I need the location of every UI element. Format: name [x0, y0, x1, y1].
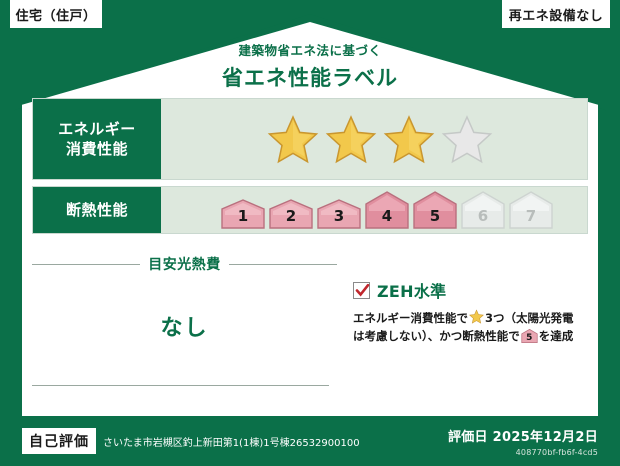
utility-cost-header: 目安光熱費	[32, 254, 337, 274]
zeh-desc-stars: 3つ（太陽光発電	[485, 311, 574, 325]
page-title: 建築物省エネ法に基づく 省エネ性能ラベル	[0, 40, 620, 92]
house-icon-inline-number: 5	[521, 334, 538, 343]
utility-cost-section: 目安光熱費 なし	[32, 250, 337, 400]
row-energy-label-line1: エネルギー	[58, 119, 136, 139]
star-icon-inline	[469, 309, 484, 324]
house-icon-level-4: 4	[365, 191, 409, 229]
house-icon-inline: 5	[521, 329, 538, 343]
energy-performance-label: 住宅（住戸） 再エネ設備なし 建築物省エネ法に基づく 省エネ性能ラベル エネルギ…	[0, 0, 620, 466]
star-rating	[267, 113, 493, 165]
footer-right: 評価日 2025年12月2日 408770bf-fb6f-4cd5	[448, 426, 598, 457]
divider-right	[229, 264, 337, 265]
zeh-desc-part2: は考慮しない）、かつ断熱性能で	[353, 329, 520, 343]
zeh-desc-part3: を達成	[539, 329, 574, 343]
house-level-number: 5	[413, 209, 457, 224]
house-icon-level-5: 5	[413, 191, 457, 229]
zeh-desc-part1: エネルギー消費性能で	[353, 311, 468, 325]
insulation-level-scale: 1 2 3	[221, 191, 553, 229]
divider-left	[32, 264, 140, 265]
title-subtitle: 建築物省エネ法に基づく	[0, 40, 620, 59]
row-insulation-performance: 断熱性能 1	[32, 186, 588, 234]
house-icon-level-2: 2	[269, 199, 313, 229]
star-icon-empty-4	[441, 113, 493, 165]
zeh-section: ZEH水準 エネルギー消費性能で3つ（太陽光発電 は考慮しない）、かつ断熱性能で…	[337, 250, 588, 400]
house-level-number: 2	[269, 209, 313, 224]
zeh-header: ZEH水準	[353, 278, 588, 302]
house-level-number: 1	[221, 209, 265, 224]
row-energy-label: エネルギー 消費性能	[33, 99, 161, 179]
badge-building-type: 住宅（住戸）	[8, 0, 104, 30]
row-energy-body	[161, 99, 587, 179]
evaluation-date-value: 2025年12月2日	[493, 430, 598, 445]
zeh-checkbox[interactable]	[353, 282, 370, 299]
row-insulation-label-text: 断熱性能	[66, 200, 128, 220]
self-evaluation-badge: 自己評価	[22, 428, 96, 454]
row-energy-performance: エネルギー 消費性能	[32, 98, 588, 180]
evaluation-date-label: 評価日	[448, 430, 488, 445]
performance-table: エネルギー 消費性能	[32, 98, 588, 240]
property-address: さいたま市岩槻区釣上新田第1(1棟)1号棟26532900100	[103, 434, 360, 449]
lower-section: 目安光熱費 なし ZEH水準 エネルギー消費性能で3つ（太陽光発電 は考慮しない…	[32, 250, 588, 400]
house-level-number: 7	[509, 209, 553, 224]
check-icon	[355, 283, 370, 298]
row-insulation-label: 断熱性能	[33, 187, 161, 233]
house-icon-level-1: 1	[221, 199, 265, 229]
evaluation-date: 評価日 2025年12月2日	[448, 426, 598, 445]
divider-bottom	[32, 385, 329, 386]
star-icon-filled-3	[383, 113, 435, 165]
utility-cost-title: 目安光熱費	[148, 254, 221, 274]
footer-left: 自己評価 さいたま市岩槻区釣上新田第1(1棟)1号棟26532900100	[22, 428, 360, 454]
row-insulation-body: 1 2 3	[161, 187, 587, 233]
title-main: 省エネ性能ラベル	[0, 62, 620, 92]
house-level-number: 4	[365, 209, 409, 224]
badge-renewable-energy: 再エネ設備なし	[500, 0, 612, 30]
house-level-number: 6	[461, 209, 505, 224]
evaluation-id: 408770bf-fb6f-4cd5	[448, 448, 598, 457]
zeh-title: ZEH水準	[377, 278, 446, 302]
house-icon-level-7: 7	[509, 191, 553, 229]
house-level-number: 3	[317, 209, 361, 224]
row-energy-label-line2: 消費性能	[66, 139, 128, 159]
zeh-description: エネルギー消費性能で3つ（太陽光発電 は考慮しない）、かつ断熱性能で5を達成	[353, 309, 588, 346]
house-icon-level-3: 3	[317, 199, 361, 229]
footer: 自己評価 さいたま市岩槻区釣上新田第1(1棟)1号棟26532900100 評価…	[0, 416, 620, 466]
star-icon-filled-2	[325, 113, 377, 165]
star-icon-filled-1	[267, 113, 319, 165]
utility-cost-value: なし	[32, 310, 337, 342]
house-icon-level-6: 6	[461, 191, 505, 229]
